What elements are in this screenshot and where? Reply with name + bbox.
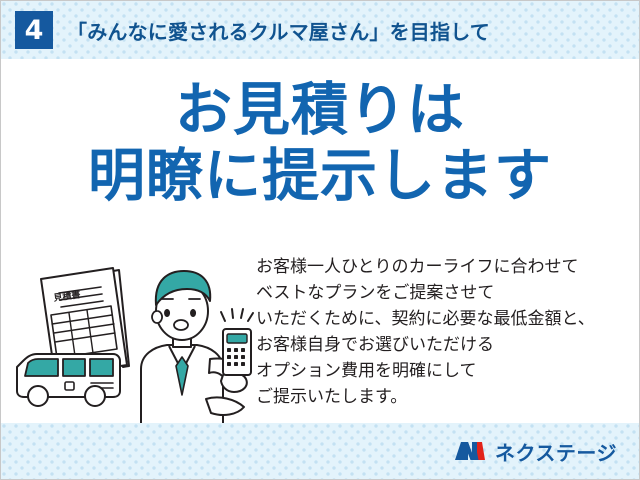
illustration-svg: 見積書 xyxy=(1,249,256,425)
brand-name: ネクステージ xyxy=(495,437,617,466)
body-copy: お客様一人ひとりのカーライフに合わせて ベストなプランをご提案させて いただくた… xyxy=(256,255,595,411)
banner-header: 4 「みんなに愛されるクルマ屋さん」を目指して xyxy=(1,1,639,59)
body-copy-line: ご提示いたします。 xyxy=(256,385,595,411)
calculator-icon xyxy=(223,329,251,375)
body-copy-line: いただくために、契約に必要な最低金額と、 xyxy=(256,307,595,333)
body-copy-line: オプション費用を明確にして xyxy=(256,359,595,385)
banner-footer: ネクステージ xyxy=(1,423,639,479)
header-title: 「みんなに愛されるクルマ屋さん」を目指して xyxy=(67,16,490,45)
headline-line-2: 明瞭に提示します xyxy=(1,147,639,205)
lower-content-row: 見積書 xyxy=(1,249,639,425)
brand-logo: ネクステージ xyxy=(453,437,617,466)
body-copy-line: お客様一人ひとりのカーライフに合わせて xyxy=(256,255,595,281)
nextage-n-logo-icon xyxy=(453,439,487,463)
body-copy-line: お客様自身でお選びいただける xyxy=(256,333,595,359)
step-number-badge: 4 xyxy=(15,11,53,49)
body-copy-line: ベストなプランをご提案させて xyxy=(256,281,595,307)
headline-line-1: お見積りは xyxy=(1,81,639,139)
promo-banner: 4 「みんなに愛されるクルマ屋さん」を目指して お見積りは 明瞭に提示します xyxy=(0,0,640,480)
illustration: 見積書 xyxy=(1,249,256,425)
banner-body: お見積りは 明瞭に提示します xyxy=(1,59,639,425)
sparkle-icon xyxy=(221,309,253,321)
